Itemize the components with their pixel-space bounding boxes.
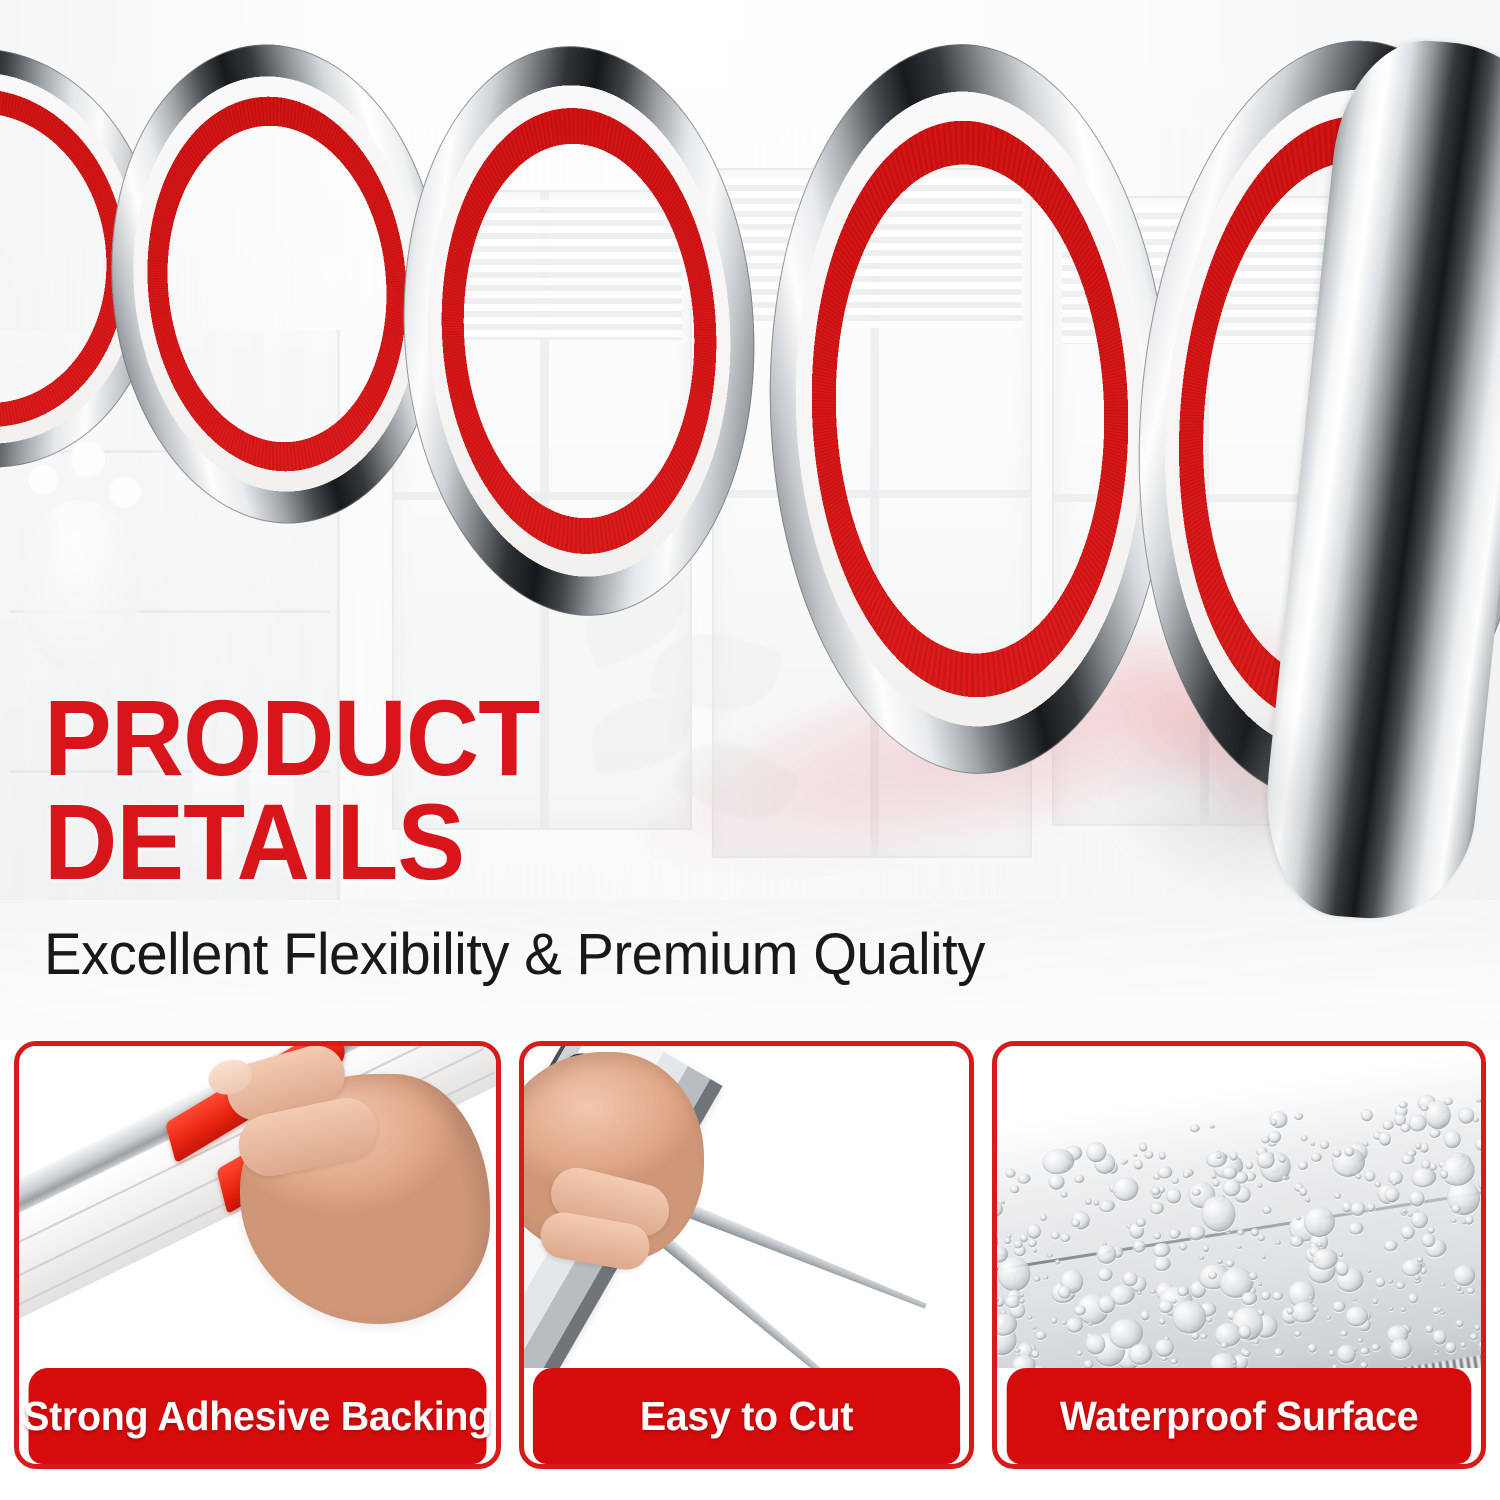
water-droplet (1248, 1271, 1257, 1280)
water-droplet (1203, 1245, 1210, 1252)
water-droplet (1151, 1242, 1171, 1259)
water-droplet (1082, 1359, 1093, 1368)
water-droplet (1366, 1202, 1376, 1212)
feature-caption-easy-to-cut: Easy to Cut (533, 1368, 960, 1464)
water-droplet (1415, 1142, 1422, 1149)
water-droplet (1442, 1129, 1463, 1150)
water-droplet (1474, 1136, 1481, 1152)
water-droplet (1199, 1255, 1205, 1260)
water-droplet (1051, 1317, 1058, 1323)
water-droplet (1363, 1141, 1369, 1147)
water-droplet (1156, 1165, 1173, 1179)
product-detail-infographic: PRODUCT DETAILS Excellent Flexibility & … (0, 0, 1500, 1500)
water-droplet (1286, 1307, 1294, 1315)
water-droplet (1060, 1233, 1071, 1243)
water-droplet (1033, 1275, 1041, 1282)
water-droplet (1300, 1135, 1308, 1143)
water-droplet (1084, 1198, 1092, 1206)
feature-panel-strong-adhesive-backing[interactable]: Strong Adhesive Backing (14, 1041, 501, 1469)
water-droplet (1310, 1152, 1322, 1163)
water-droplet (1372, 1298, 1379, 1305)
water-droplet (1158, 1151, 1167, 1160)
water-droplet (1236, 1228, 1245, 1235)
water-droplet (1030, 1349, 1039, 1358)
water-droplet (1313, 1307, 1320, 1314)
water-droplet (1133, 1153, 1138, 1157)
water-droplet (1452, 1264, 1477, 1288)
water-droplets (997, 1046, 1481, 1368)
water-droplet (1032, 1326, 1037, 1330)
water-droplet (1364, 1169, 1377, 1182)
water-droplet (1476, 1098, 1481, 1103)
page-title-line-1: PRODUCT (44, 686, 1097, 790)
water-droplet (1276, 1240, 1282, 1246)
water-droplet (1480, 1218, 1481, 1236)
feature-image-waterproof-surface (997, 1046, 1481, 1368)
feature-image-strong-adhesive-backing (19, 1046, 496, 1368)
water-droplet (1340, 1330, 1349, 1338)
water-droplet (1297, 1160, 1308, 1171)
water-droplet (1328, 1350, 1335, 1357)
water-droplet (1451, 1218, 1457, 1223)
water-droplet (1396, 1281, 1406, 1290)
headline-block: PRODUCT DETAILS Excellent Flexibility & … (44, 686, 1164, 988)
water-droplet (1257, 1183, 1263, 1189)
tape-loop-4 (757, 37, 1182, 781)
water-droplet (1474, 1324, 1481, 1330)
water-droplet (1220, 1341, 1228, 1348)
water-droplet (1032, 1248, 1037, 1253)
water-droplet (1271, 1291, 1284, 1302)
feature-panel-row: Strong Adhesive Backing Easy to Cut (0, 1041, 1500, 1469)
water-droplet (1237, 1245, 1242, 1249)
water-droplet (1211, 1173, 1217, 1179)
water-droplet (1140, 1310, 1151, 1321)
water-droplet (1310, 1142, 1315, 1146)
water-droplet (1359, 1346, 1370, 1355)
water-droplet (1133, 1159, 1144, 1171)
water-droplet (1332, 1300, 1346, 1313)
water-droplet (1187, 1224, 1206, 1241)
water-droplet (1040, 1214, 1048, 1222)
tape-loop-3 (389, 37, 768, 625)
water-droplet (1293, 1112, 1303, 1121)
water-droplet (1005, 1168, 1016, 1179)
water-droplet (1076, 1350, 1083, 1357)
water-droplet (1097, 1267, 1113, 1282)
water-droplet (1383, 1239, 1399, 1252)
feature-panel-waterproof-surface[interactable]: Waterproof Surface (992, 1041, 1486, 1469)
feature-caption-waterproof-surface: Waterproof Surface (1007, 1368, 1472, 1464)
water-droplet (1457, 1106, 1475, 1125)
water-droplet (1018, 1298, 1024, 1304)
water-droplet (1359, 1361, 1368, 1368)
water-droplet (1459, 1290, 1464, 1295)
water-droplet (1273, 1347, 1284, 1357)
water-droplet (1209, 1124, 1215, 1129)
water-droplet (1377, 1131, 1392, 1147)
water-droplet (1469, 1332, 1479, 1341)
hero-product-image: PRODUCT DETAILS Excellent Flexibility & … (0, 0, 1500, 1040)
water-droplet (1382, 1119, 1395, 1131)
water-droplet (1098, 1199, 1116, 1214)
water-droplet (1152, 1232, 1162, 1241)
water-droplet (1168, 1228, 1180, 1239)
water-droplet (1132, 1239, 1147, 1254)
water-droplet (1388, 1306, 1393, 1311)
water-droplet (1319, 1140, 1329, 1150)
page-subtitle: Excellent Flexibility & Premium Quality (44, 921, 1130, 988)
water-droplet (1294, 1330, 1302, 1338)
water-droplet (1466, 1287, 1475, 1295)
water-droplet (1357, 1338, 1364, 1344)
water-droplet (1440, 1283, 1445, 1287)
water-droplet (1461, 1221, 1466, 1225)
page-title-line-2: DETAILS (44, 790, 1097, 894)
water-droplet (1371, 1343, 1381, 1351)
water-droplet (1352, 1298, 1357, 1302)
water-droplet (1440, 1310, 1445, 1315)
water-droplet (1298, 1186, 1308, 1196)
water-droplet (1257, 1234, 1266, 1242)
wet-chrome-surface (997, 1046, 1481, 1368)
water-droplet (1338, 1252, 1344, 1258)
feature-panel-easy-to-cut[interactable]: Easy to Cut (519, 1041, 974, 1469)
water-droplet (1434, 1350, 1439, 1354)
water-droplet (1409, 1189, 1426, 1207)
water-droplet (1009, 1185, 1019, 1194)
water-droplet (1374, 1276, 1386, 1288)
water-droplet (1003, 1237, 1012, 1245)
water-droplet (1026, 1223, 1042, 1240)
water-droplet (1027, 1238, 1037, 1247)
water-droplet (1473, 1116, 1480, 1122)
water-droplet (1407, 1293, 1418, 1304)
water-droplet (1333, 1192, 1341, 1199)
water-droplet (1307, 1343, 1317, 1353)
water-droplet (1206, 1317, 1213, 1323)
water-droplet (1027, 1315, 1032, 1321)
water-droplet (1258, 1282, 1263, 1286)
water-droplet (1055, 1259, 1060, 1264)
water-droplet (1121, 1160, 1126, 1165)
water-droplet (1178, 1242, 1187, 1251)
water-droplet (1477, 1340, 1481, 1350)
water-droplet (1170, 1358, 1179, 1365)
water-droplet (1231, 1360, 1236, 1365)
water-droplet (1136, 1290, 1141, 1295)
water-droplet (1384, 1186, 1401, 1203)
water-droplet (1455, 1318, 1464, 1327)
water-droplet (1158, 1317, 1167, 1326)
water-droplet (1387, 1279, 1393, 1284)
water-droplet (1199, 1332, 1208, 1339)
water-droplet (1244, 1160, 1253, 1169)
water-droplet (1261, 1205, 1271, 1214)
water-droplet (1350, 1201, 1366, 1217)
water-droplet (1050, 1230, 1061, 1240)
water-droplet (1429, 1128, 1441, 1139)
water-droplet (1445, 1341, 1458, 1354)
water-droplet (1110, 1175, 1140, 1203)
water-droplet (1060, 1191, 1068, 1198)
water-droplet (1165, 1187, 1182, 1204)
water-droplet (1212, 1179, 1220, 1187)
water-droplet (1143, 1150, 1154, 1160)
water-droplet (1480, 1335, 1481, 1341)
water-droplet (1136, 1217, 1147, 1227)
water-droplet (1020, 1293, 1025, 1298)
water-droplet (1355, 1173, 1362, 1180)
water-droplet (1153, 1338, 1175, 1359)
water-droplet (1401, 1153, 1415, 1165)
water-droplet (1253, 1339, 1260, 1344)
water-droplet (1047, 1253, 1053, 1258)
water-droplet (1171, 1177, 1179, 1184)
water-droplet (1035, 1330, 1047, 1341)
water-droplet (1360, 1108, 1374, 1122)
feature-image-easy-to-cut (524, 1046, 969, 1368)
water-droplet (1304, 1196, 1311, 1203)
water-droplet (1367, 1269, 1372, 1274)
water-droplet (1048, 1173, 1066, 1191)
water-droplet (1400, 1307, 1406, 1312)
water-droplet (1065, 1316, 1084, 1334)
water-droplet (1326, 1315, 1332, 1320)
water-droplet (1017, 1172, 1032, 1185)
water-droplet (1459, 1341, 1466, 1348)
water-droplet (1443, 1097, 1452, 1106)
water-droplet (1261, 1255, 1266, 1259)
water-droplet (1074, 1175, 1085, 1184)
water-droplet (1348, 1221, 1364, 1235)
water-droplet (1152, 1255, 1172, 1272)
water-droplet (1043, 1275, 1048, 1279)
water-droplet (1087, 1321, 1092, 1326)
feature-caption-strong-adhesive-backing: Strong Adhesive Backing (29, 1368, 487, 1464)
water-droplet (1189, 1124, 1200, 1133)
water-droplet (1260, 1291, 1271, 1301)
